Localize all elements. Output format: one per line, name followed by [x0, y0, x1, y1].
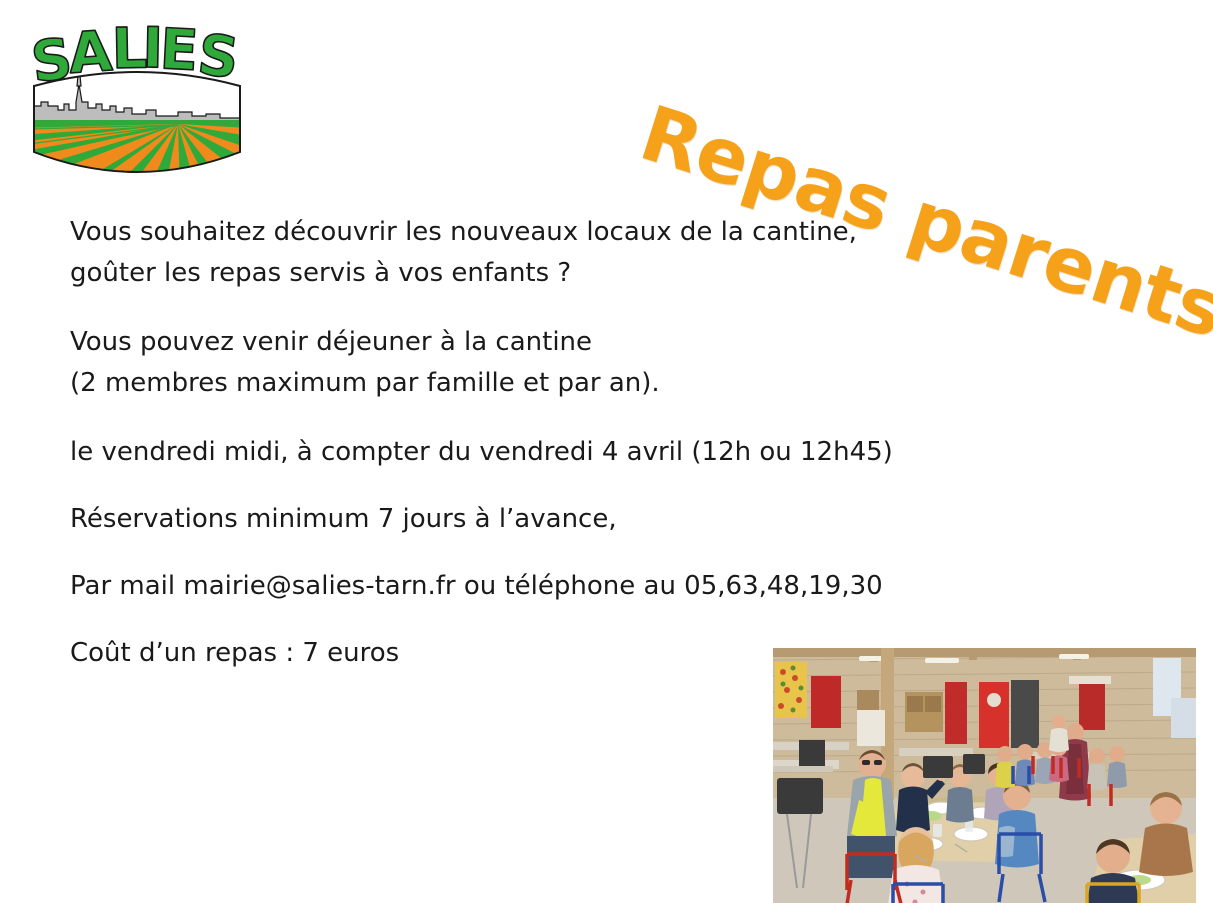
canteen-photo — [773, 648, 1196, 903]
paragraph-contact: Par mail mairie@salies-tarn.fr ou téléph… — [70, 566, 1070, 607]
paragraph-booking: Réservations minimum 7 jours à l’avance, — [70, 499, 1070, 540]
salies-logo: S A L I E S — [28, 24, 246, 188]
paragraph-schedule: le vendredi midi, à compter du vendredi … — [70, 432, 1070, 473]
paragraph-conditions: Vous pouvez venir déjeuner à la cantine … — [70, 322, 1070, 404]
poster-body: Vous souhaitez découvrir les nouveaux lo… — [70, 212, 1070, 674]
paragraph-intro: Vous souhaitez découvrir les nouveaux lo… — [70, 212, 1070, 294]
poster-page: S A L I E S — [0, 0, 1213, 903]
poster-title-container: Repas parents! — [636, 28, 1206, 228]
